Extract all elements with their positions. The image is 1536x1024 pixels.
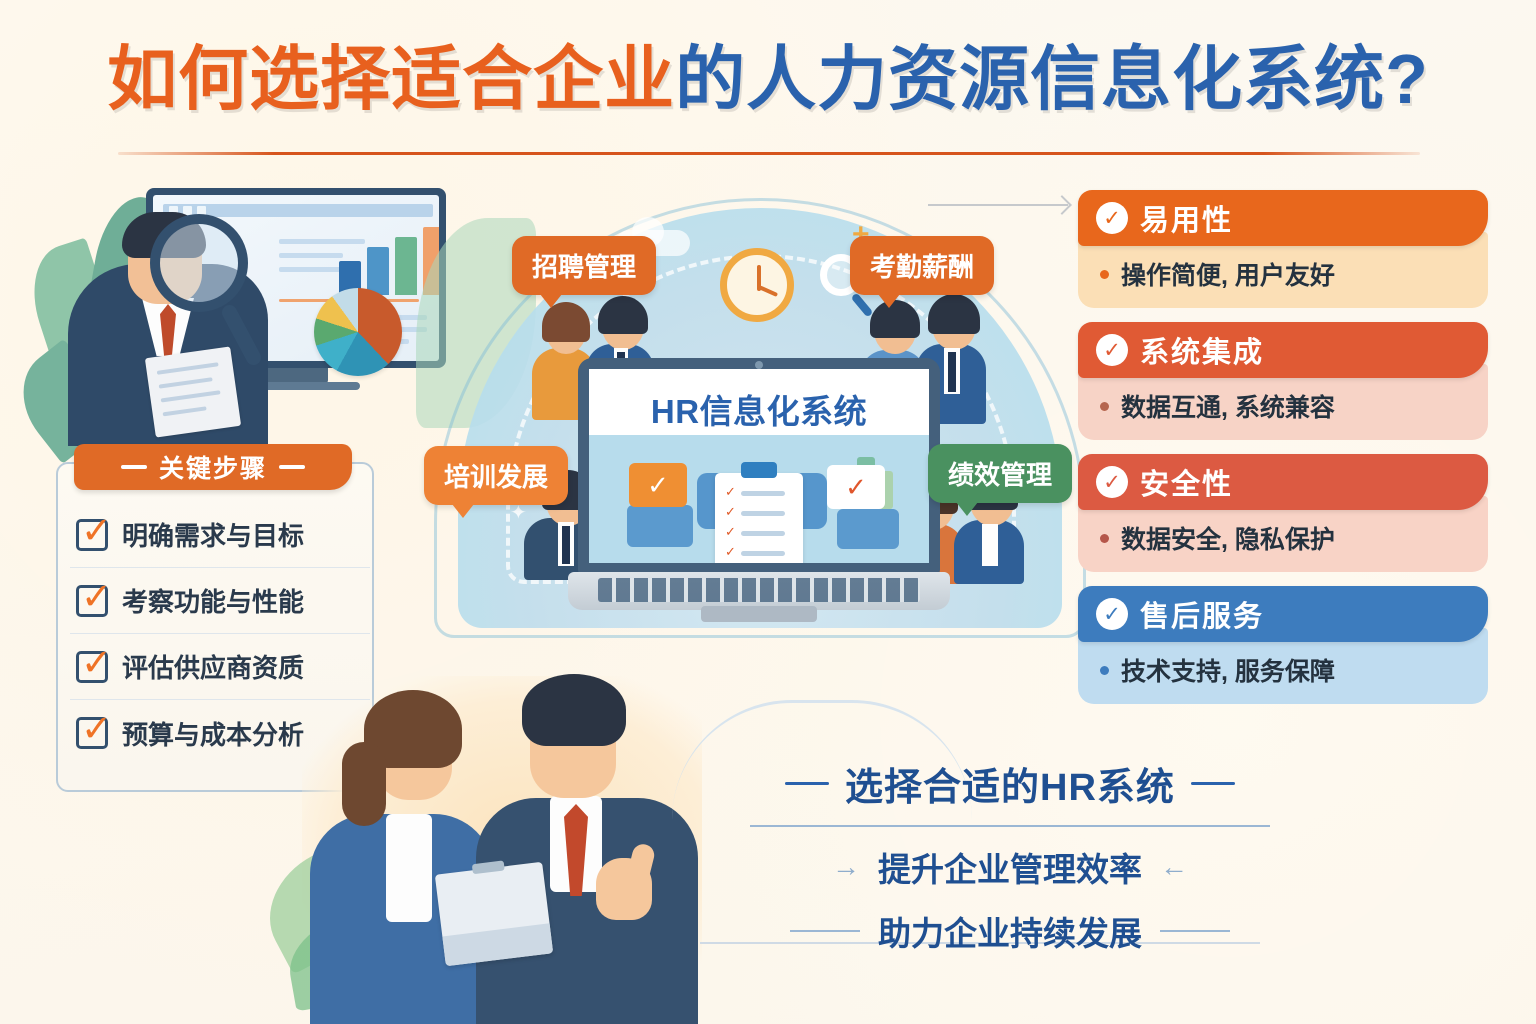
- check-circle-icon: ✓: [1096, 598, 1128, 630]
- checkmark-icon: ✓: [725, 484, 736, 500]
- bar-chart-bar: [395, 237, 417, 295]
- feature-card-header: ✓ 安全性: [1078, 454, 1488, 510]
- check-circle-icon: ✓: [1096, 466, 1128, 498]
- bullet-icon: [1100, 534, 1109, 543]
- check-circle-icon: ✓: [1096, 334, 1128, 366]
- person-hair: [928, 294, 980, 334]
- tag-label: 绩效管理: [948, 460, 1052, 490]
- tag-label: 培训发展: [444, 462, 548, 492]
- laptop-screen-title: HR信息化系统: [589, 385, 929, 433]
- clipboard-line: [159, 377, 213, 388]
- step-item-1[interactable]: 明确需求与目标: [70, 502, 370, 568]
- clipboard-clip: [741, 462, 777, 478]
- bottom-line-1: 提升企业管理效率: [878, 843, 1142, 891]
- checkbox-icon[interactable]: [76, 585, 108, 617]
- feature-card-security[interactable]: ✓ 安全性 数据安全, 隐私保护: [1078, 454, 1488, 572]
- key-steps-title: 关键步骤: [159, 449, 267, 485]
- bottom-line-row-1: → 提升企业管理效率 ←: [700, 843, 1320, 891]
- person-woman-shirt: [386, 814, 432, 922]
- screen-block: [627, 505, 693, 547]
- bullet-icon: [1100, 270, 1109, 279]
- title-divider: [118, 152, 1420, 155]
- checkmark-bubble-orange: ✓: [629, 463, 687, 507]
- thumbs-up-icon: [596, 858, 652, 920]
- laptop-lid: HR信息化系统 ✓ ✓ ✓ ✓ ✓ ✓: [578, 358, 940, 574]
- person-hair: [542, 302, 590, 342]
- feature-card-bullet: 技术支持, 服务保障: [1121, 652, 1335, 688]
- clipboard-row: [741, 511, 785, 516]
- banner-dash-left: [121, 465, 147, 469]
- feature-card-integration[interactable]: ✓ 系统集成 数据互通, 系统兼容: [1078, 322, 1488, 440]
- feature-card-title: 安全性: [1140, 461, 1233, 503]
- clipboard-line: [157, 362, 219, 375]
- clipboard: [435, 862, 553, 966]
- arrow-left-icon: ←: [1160, 851, 1188, 883]
- clipboard-icon: ✓ ✓ ✓ ✓: [715, 473, 803, 563]
- title-blue-segment: 的人力资源信息化系统?: [675, 40, 1429, 118]
- person-shirt: [982, 524, 998, 566]
- feature-card-header: ✓ 售后服务: [1078, 586, 1488, 642]
- checkmark-icon: ✓: [725, 524, 736, 540]
- clipboard: [145, 346, 241, 437]
- title-orange-segment: 如何选择适合企业: [107, 40, 675, 118]
- clipboard-row: [741, 531, 785, 536]
- feature-card-support[interactable]: ✓ 售后服务 技术支持, 服务保障: [1078, 586, 1488, 704]
- clipboard-row: [741, 491, 785, 496]
- bottom-divider: [750, 825, 1270, 827]
- dash-right: [1191, 782, 1235, 785]
- feature-card-header: ✓ 易用性: [1078, 190, 1488, 246]
- key-steps-banner: 关键步骤: [74, 444, 352, 490]
- laptop-screen: HR信息化系统 ✓ ✓ ✓ ✓ ✓ ✓: [589, 369, 929, 563]
- feature-card-bullet: 操作简便, 用户友好: [1121, 256, 1335, 292]
- illustration-two-business-people: [272, 646, 742, 1024]
- feature-card-bullet: 数据互通, 系统兼容: [1121, 388, 1335, 424]
- webcam-icon: [755, 361, 763, 369]
- clipboard-row: [741, 551, 785, 556]
- banner-dash-right: [279, 465, 305, 469]
- feature-card-bullet: 数据安全, 隐私保护: [1121, 520, 1335, 556]
- tag-performance-management: 绩效管理: [928, 444, 1072, 503]
- dash-left: [785, 782, 829, 785]
- screen-text-line: [279, 253, 343, 258]
- bottom-summary-banner: 选择合适的HR系统 → 提升企业管理效率 ← 助力企业持续发展: [700, 756, 1320, 955]
- center-hub-illustration: + ✦ ✦ ✦ ✦: [420, 200, 1100, 670]
- check-circle-icon: ✓: [1096, 202, 1128, 234]
- feature-card-title: 售后服务: [1140, 593, 1264, 635]
- tag-label: 考勤薪酬: [870, 252, 974, 282]
- clock-hand: [758, 285, 778, 297]
- checkbox-icon[interactable]: [76, 651, 108, 683]
- step-label: 明确需求与目标: [122, 516, 304, 553]
- clipboard-line: [161, 390, 221, 402]
- laptop-trackpad: [701, 606, 817, 622]
- feature-card-usability[interactable]: ✓ 易用性 操作简便, 用户友好: [1078, 190, 1488, 308]
- checkbox-icon[interactable]: [76, 519, 108, 551]
- bullet-icon: [1100, 402, 1109, 411]
- feature-cards: ✓ 易用性 操作简便, 用户友好 ✓ 系统集成 数据互通, 系统兼容 ✓ 安全性…: [1078, 190, 1488, 718]
- laptop-keyboard: [598, 578, 920, 602]
- bottom-title: 选择合适的HR系统: [845, 756, 1175, 811]
- tag-label: 招聘管理: [532, 252, 636, 282]
- checkmark-bubble-white: ✓: [827, 465, 885, 509]
- bullet-icon: [1100, 666, 1109, 675]
- person-hair: [598, 296, 648, 334]
- checkmark-icon: ✓: [725, 504, 736, 520]
- bar-chart-bar: [367, 247, 389, 295]
- clipboard-line: [163, 406, 207, 416]
- bottom-line-row-2: 助力企业持续发展: [700, 907, 1320, 955]
- feature-card-title: 系统集成: [1140, 329, 1264, 371]
- feature-card-header: ✓ 系统集成: [1078, 322, 1488, 378]
- step-item-2[interactable]: 考察功能与性能: [70, 568, 370, 634]
- connector-arrow-to-cards: [928, 204, 1068, 206]
- pie-chart: [314, 288, 402, 376]
- checkbox-icon[interactable]: [76, 717, 108, 749]
- person-woman-ponytail: [342, 742, 386, 826]
- tag-training-development: 培训发展: [424, 446, 568, 505]
- tag-recruitment: 招聘管理: [512, 236, 656, 295]
- bottom-line-2: 助力企业持续发展: [878, 907, 1142, 955]
- clock-icon: [720, 248, 794, 322]
- bottom-title-row: 选择合适的HR系统: [700, 756, 1320, 811]
- page-title: 如何选择适合企业的人力资源信息化系统?: [0, 44, 1536, 114]
- illustration-businessman-dashboard: [46, 176, 466, 446]
- screen-text-line: [279, 239, 365, 244]
- feature-card-title: 易用性: [1140, 197, 1233, 239]
- checkmark-icon: ✓: [725, 544, 736, 560]
- tag-attendance-payroll: 考勤薪酬: [850, 236, 994, 295]
- arrow-right-icon: →: [832, 851, 860, 883]
- segment-right: [1160, 930, 1230, 932]
- magnifier-icon: [150, 214, 248, 312]
- person-man-hair: [522, 674, 626, 746]
- laptop: HR信息化系统 ✓ ✓ ✓ ✓ ✓ ✓: [568, 358, 950, 624]
- step-label: 考察功能与性能: [122, 582, 304, 619]
- segment-left: [790, 930, 860, 932]
